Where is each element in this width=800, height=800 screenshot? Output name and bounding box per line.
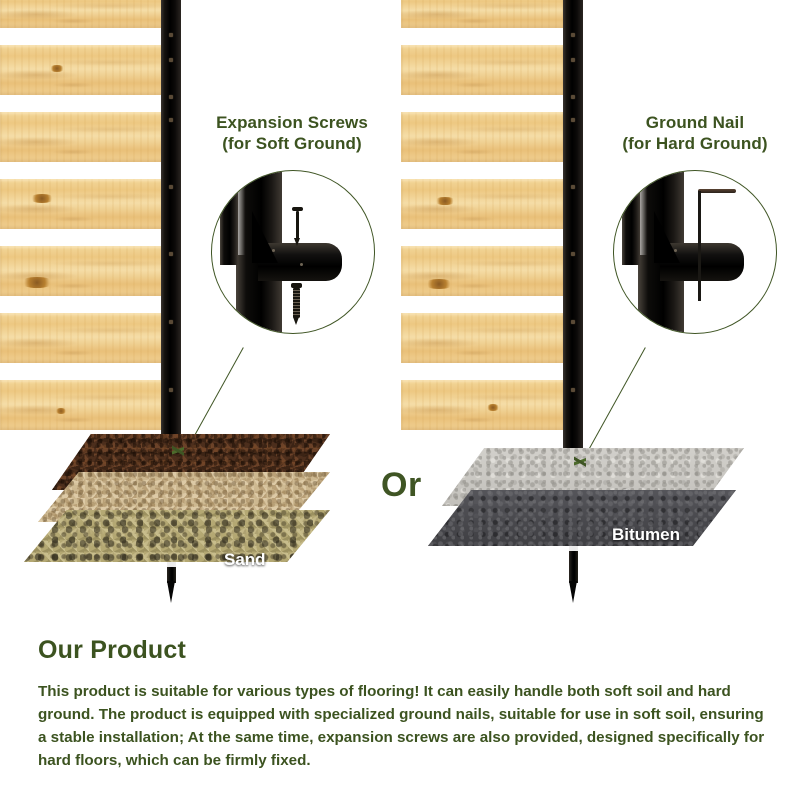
post-hole: [169, 388, 173, 392]
wood-slat: [0, 0, 163, 28]
fence-stake-tip-right: [569, 581, 577, 603]
post-hole: [169, 33, 173, 37]
fence-post-right: [563, 0, 583, 455]
grass-tuft-right: [574, 450, 586, 474]
fence-scene: Expansion Screws (for Soft Ground) Groun…: [0, 0, 800, 615]
post-hole: [169, 185, 173, 189]
infographic-root: Expansion Screws (for Soft Ground) Groun…: [0, 0, 800, 800]
bracket-post-highlight: [640, 170, 647, 255]
callout-title-right: Ground Nail: [646, 113, 744, 132]
ground-nail-head: [698, 189, 736, 193]
fence-stake-tip-left: [167, 581, 175, 603]
product-description-section: Our Product This product is suitable for…: [38, 636, 766, 772]
expansion-screw-shaft: [296, 211, 299, 239]
post-hole: [571, 252, 575, 256]
expansion-screw-tip: [293, 317, 299, 325]
callout-label-right: Ground Nail (for Hard Ground): [595, 112, 795, 155]
wood-slat: [401, 112, 564, 162]
bracket-screw-hole: [674, 249, 677, 252]
wood-slat: [0, 246, 163, 296]
ground-layer-sand: [24, 510, 330, 562]
layer-surface: [24, 510, 330, 562]
expansion-screw-tip: [294, 238, 300, 246]
callout-title-left: Expansion Screws: [216, 113, 368, 132]
bracket-screw-hole: [300, 263, 303, 266]
post-hole: [169, 118, 173, 122]
post-hole: [571, 320, 575, 324]
wood-slat: [0, 45, 163, 95]
expansion-screw-thread: [293, 288, 300, 318]
magnifier-expansion-screws: [211, 170, 375, 334]
post-hole: [169, 252, 173, 256]
page-title: Our Product: [38, 636, 766, 665]
post-hole: [571, 95, 575, 99]
description-body: This product is suitable for various typ…: [38, 680, 766, 772]
wood-slat: [401, 45, 564, 95]
wood-slat: [0, 112, 163, 162]
layer-surface: [428, 490, 736, 546]
bracket-post-back: [622, 170, 640, 265]
bracket-post-back: [220, 170, 238, 265]
wood-slat: [0, 313, 163, 363]
bracket-post-highlight: [238, 170, 245, 255]
post-hole: [169, 95, 173, 99]
fence-post-left: [161, 0, 181, 455]
magnifier-ground-nail: [613, 170, 777, 334]
wood-slat: [0, 380, 163, 430]
wood-slat: [401, 246, 564, 296]
ground-layer-label: Sand: [224, 550, 266, 570]
bracket-screw-hole: [272, 249, 275, 252]
divider-or-text: Or: [381, 466, 422, 505]
ground-layer-label: Bitumen: [612, 525, 680, 545]
wood-slat: [0, 179, 163, 229]
post-hole: [571, 185, 575, 189]
post-hole: [571, 388, 575, 392]
wood-slat: [401, 0, 564, 28]
callout-label-left: Expansion Screws (for Soft Ground): [192, 112, 392, 155]
grass-tuft-left: [172, 438, 184, 464]
wood-slat: [401, 313, 564, 363]
post-hole: [571, 58, 575, 62]
ground-nail-shaft: [698, 191, 701, 301]
wood-slat: [401, 380, 564, 430]
wood-slat: [401, 179, 564, 229]
post-hole: [169, 58, 173, 62]
post-hole: [571, 33, 575, 37]
callout-subtitle-left: (for Soft Ground): [192, 133, 392, 154]
post-hole: [571, 118, 575, 122]
post-hole: [169, 320, 173, 324]
callout-subtitle-right: (for Hard Ground): [595, 133, 795, 154]
ground-layer-bitumen: [428, 490, 736, 546]
